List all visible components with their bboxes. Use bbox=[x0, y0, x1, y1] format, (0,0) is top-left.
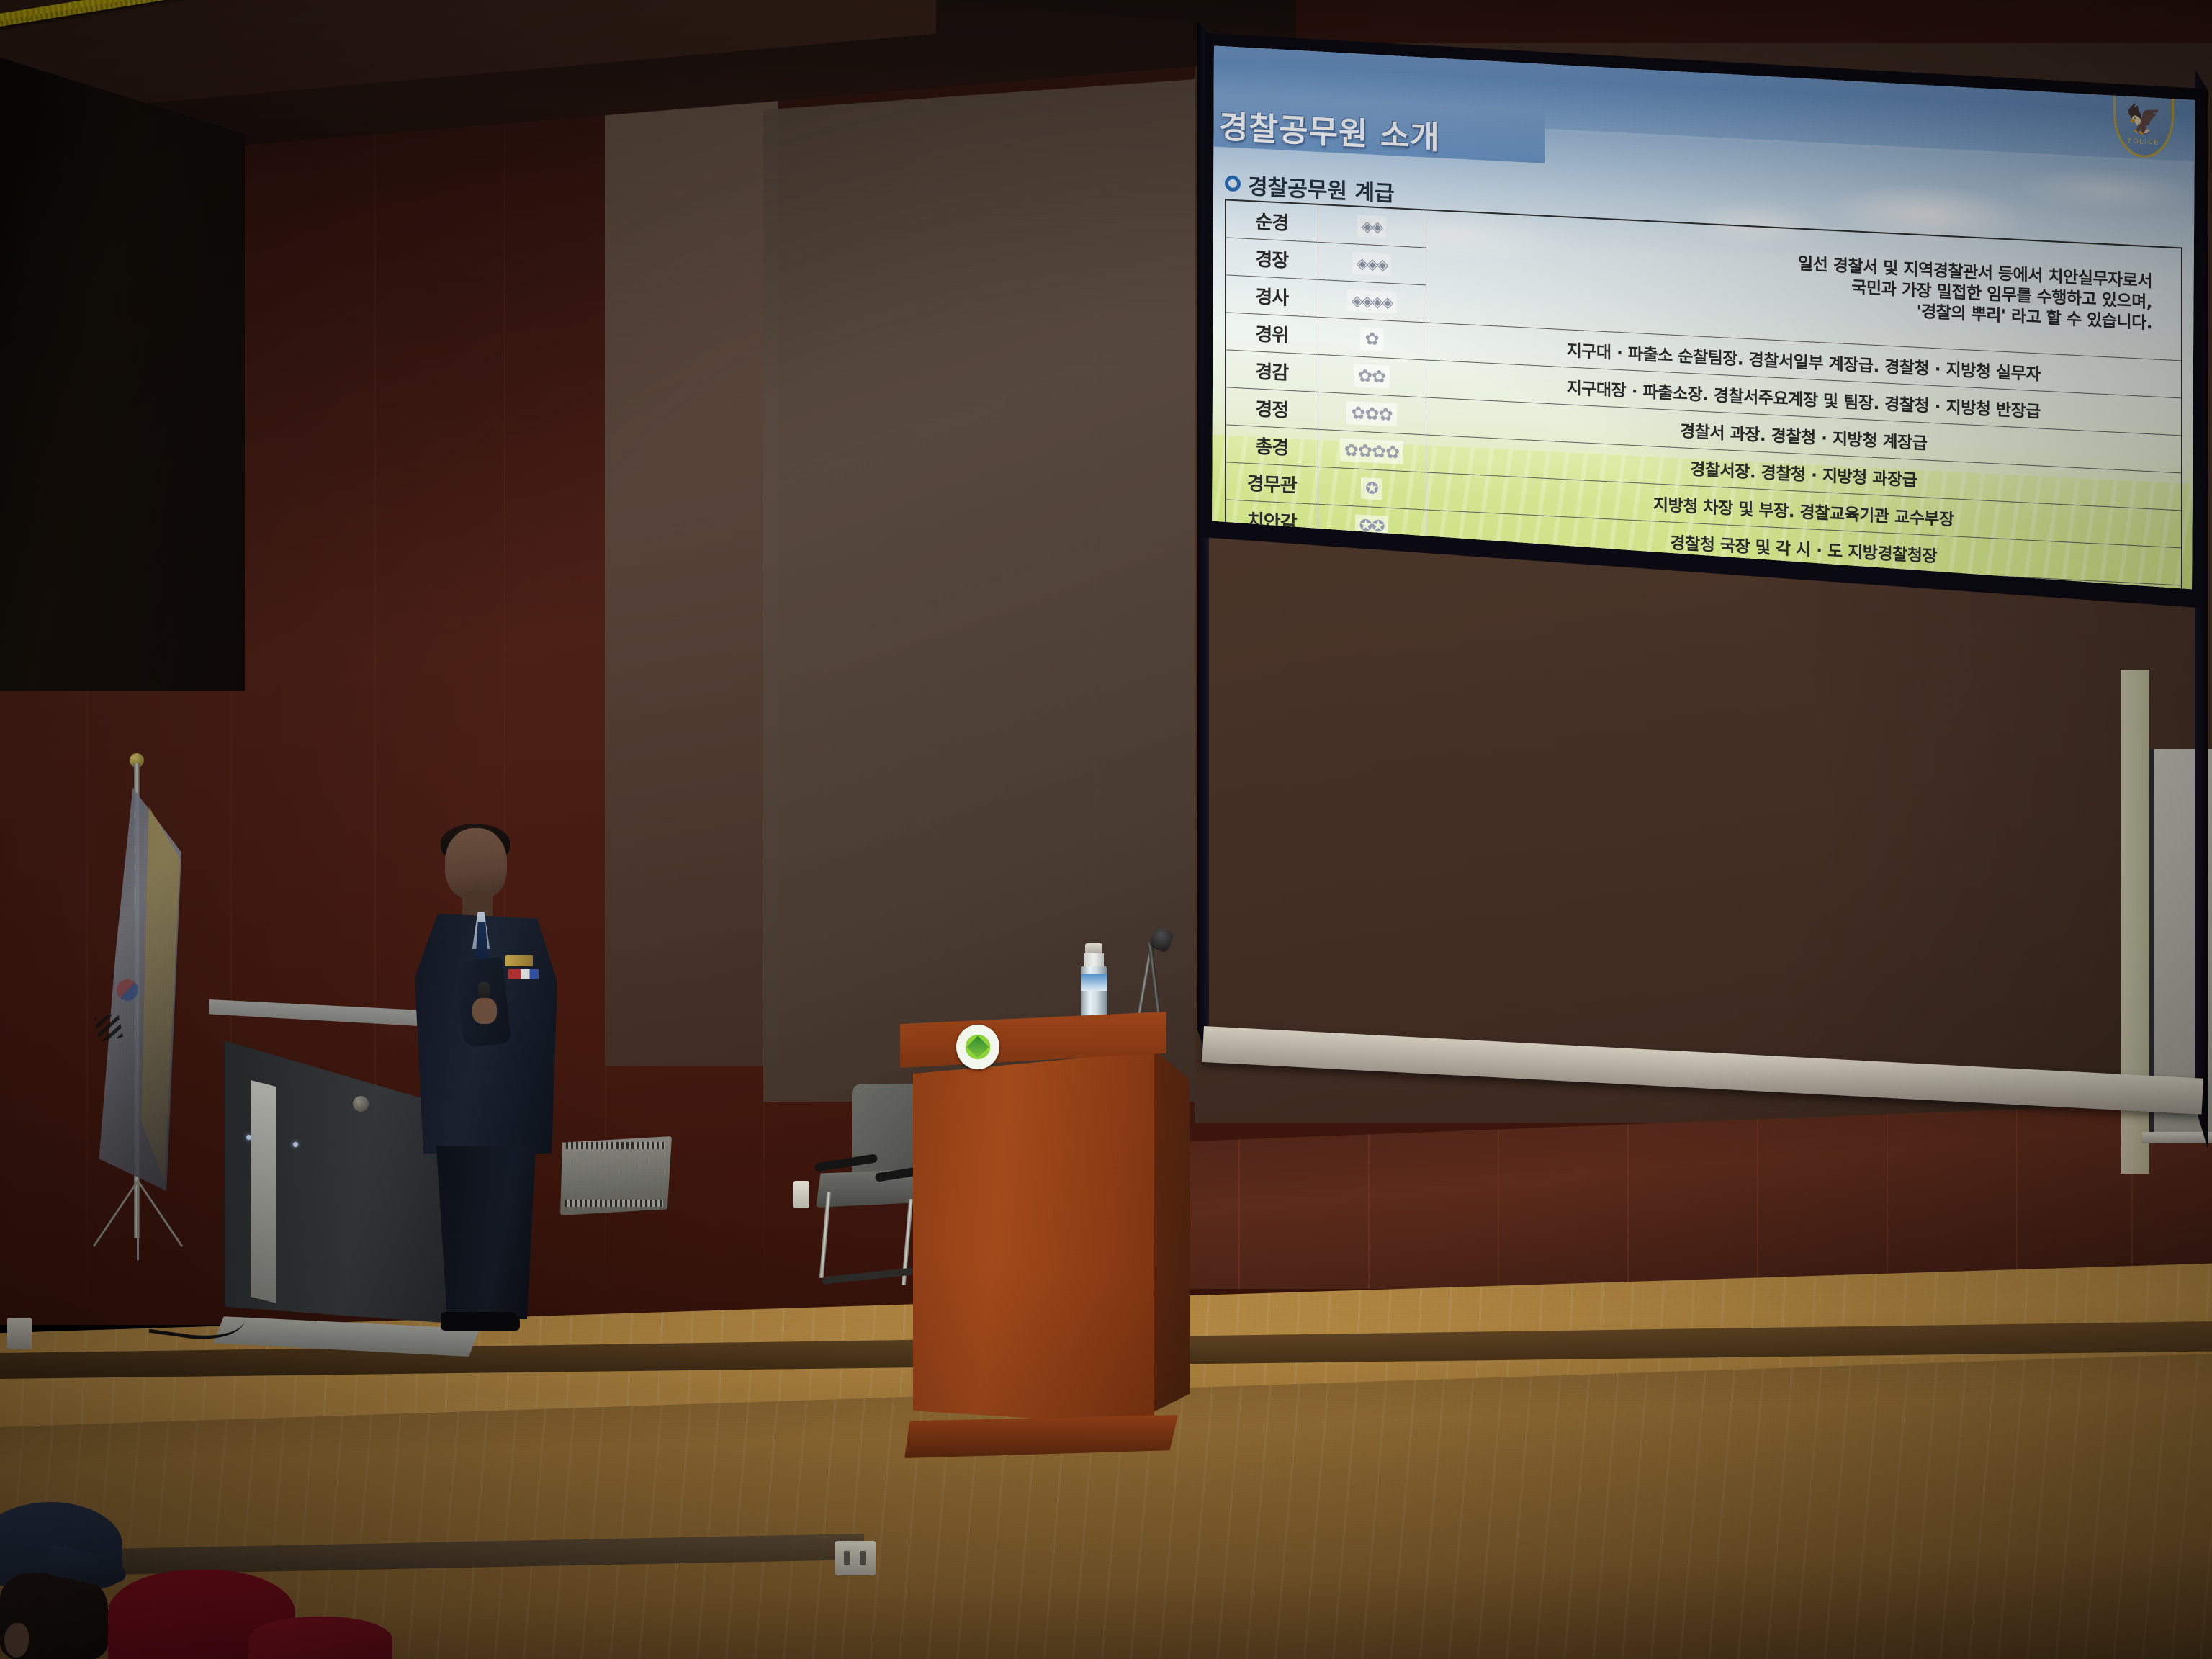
speaker-person bbox=[403, 828, 562, 1289]
wall-outlet-icon[interactable] bbox=[835, 1541, 876, 1575]
green-circular-school-emblem-icon bbox=[956, 1025, 999, 1069]
rank-name: 총경 bbox=[1226, 425, 1318, 467]
rank-insignia: ◈◈◈ bbox=[1318, 242, 1426, 285]
rank-insignia: ✪✪✪✪ bbox=[1318, 579, 1426, 622]
rank-insignia: ✿✿ bbox=[1318, 354, 1426, 397]
rank-insignia: ✿ bbox=[1318, 317, 1426, 360]
auditorium-scene: 🦅 POLICE 경찰공무원 소개 경찰공무원 계급 순경 ◈◈ bbox=[0, 0, 2212, 1659]
electric-heater bbox=[560, 1136, 672, 1215]
rank-insignia: ✪ bbox=[1318, 467, 1426, 510]
blue-ring-bullet-icon bbox=[1225, 175, 1241, 192]
presentation-slide: 🦅 POLICE 경찰공무원 소개 경찰공무원 계급 순경 ◈◈ bbox=[1206, 31, 2207, 614]
speaker-name-badge bbox=[505, 955, 533, 966]
water-bottle bbox=[1080, 943, 1107, 1022]
wooden-podium bbox=[900, 1012, 1166, 1487]
rank-insignia: ✿✿✿ bbox=[1318, 392, 1426, 435]
rank-name: 경정 bbox=[1226, 387, 1318, 429]
wall-section-left bbox=[605, 0, 778, 1066]
whiteboard-marker-tray bbox=[2142, 1132, 2212, 1143]
projection-screen: 🦅 POLICE 경찰공무원 소개 경찰공무원 계급 순경 ◈◈ bbox=[1199, 18, 2207, 1098]
audience-member bbox=[248, 1617, 392, 1659]
rank-insignia: ✿✿✿✿ bbox=[1318, 429, 1426, 472]
speaker-head bbox=[445, 828, 507, 900]
wall-outlet-icon[interactable] bbox=[793, 1181, 809, 1208]
rank-name: 경위 bbox=[1226, 313, 1318, 354]
rank-name: 경장 bbox=[1226, 238, 1318, 279]
gold-fringe-valance bbox=[0, 16, 763, 153]
rank-name: 순경 bbox=[1226, 199, 1318, 242]
rank-name: 치안총감 bbox=[1226, 575, 1318, 617]
speaker-service-ribbon bbox=[508, 969, 539, 979]
screen-surface: 🦅 POLICE 경찰공무원 소개 경찰공무원 계급 순경 ◈◈ bbox=[1199, 18, 2207, 1084]
rank-insignia: ◈◈◈◈ bbox=[1318, 279, 1426, 323]
rank-name: 경무관 bbox=[1226, 462, 1318, 504]
rank-insignia: ◈◈ bbox=[1318, 204, 1426, 248]
stage-curtain bbox=[0, 58, 245, 691]
rank-name: 경감 bbox=[1226, 350, 1318, 392]
rank-name: 경사 bbox=[1226, 275, 1318, 317]
wall-outlet-icon[interactable] bbox=[7, 1318, 32, 1349]
korean-flag-icon bbox=[72, 763, 202, 1267]
